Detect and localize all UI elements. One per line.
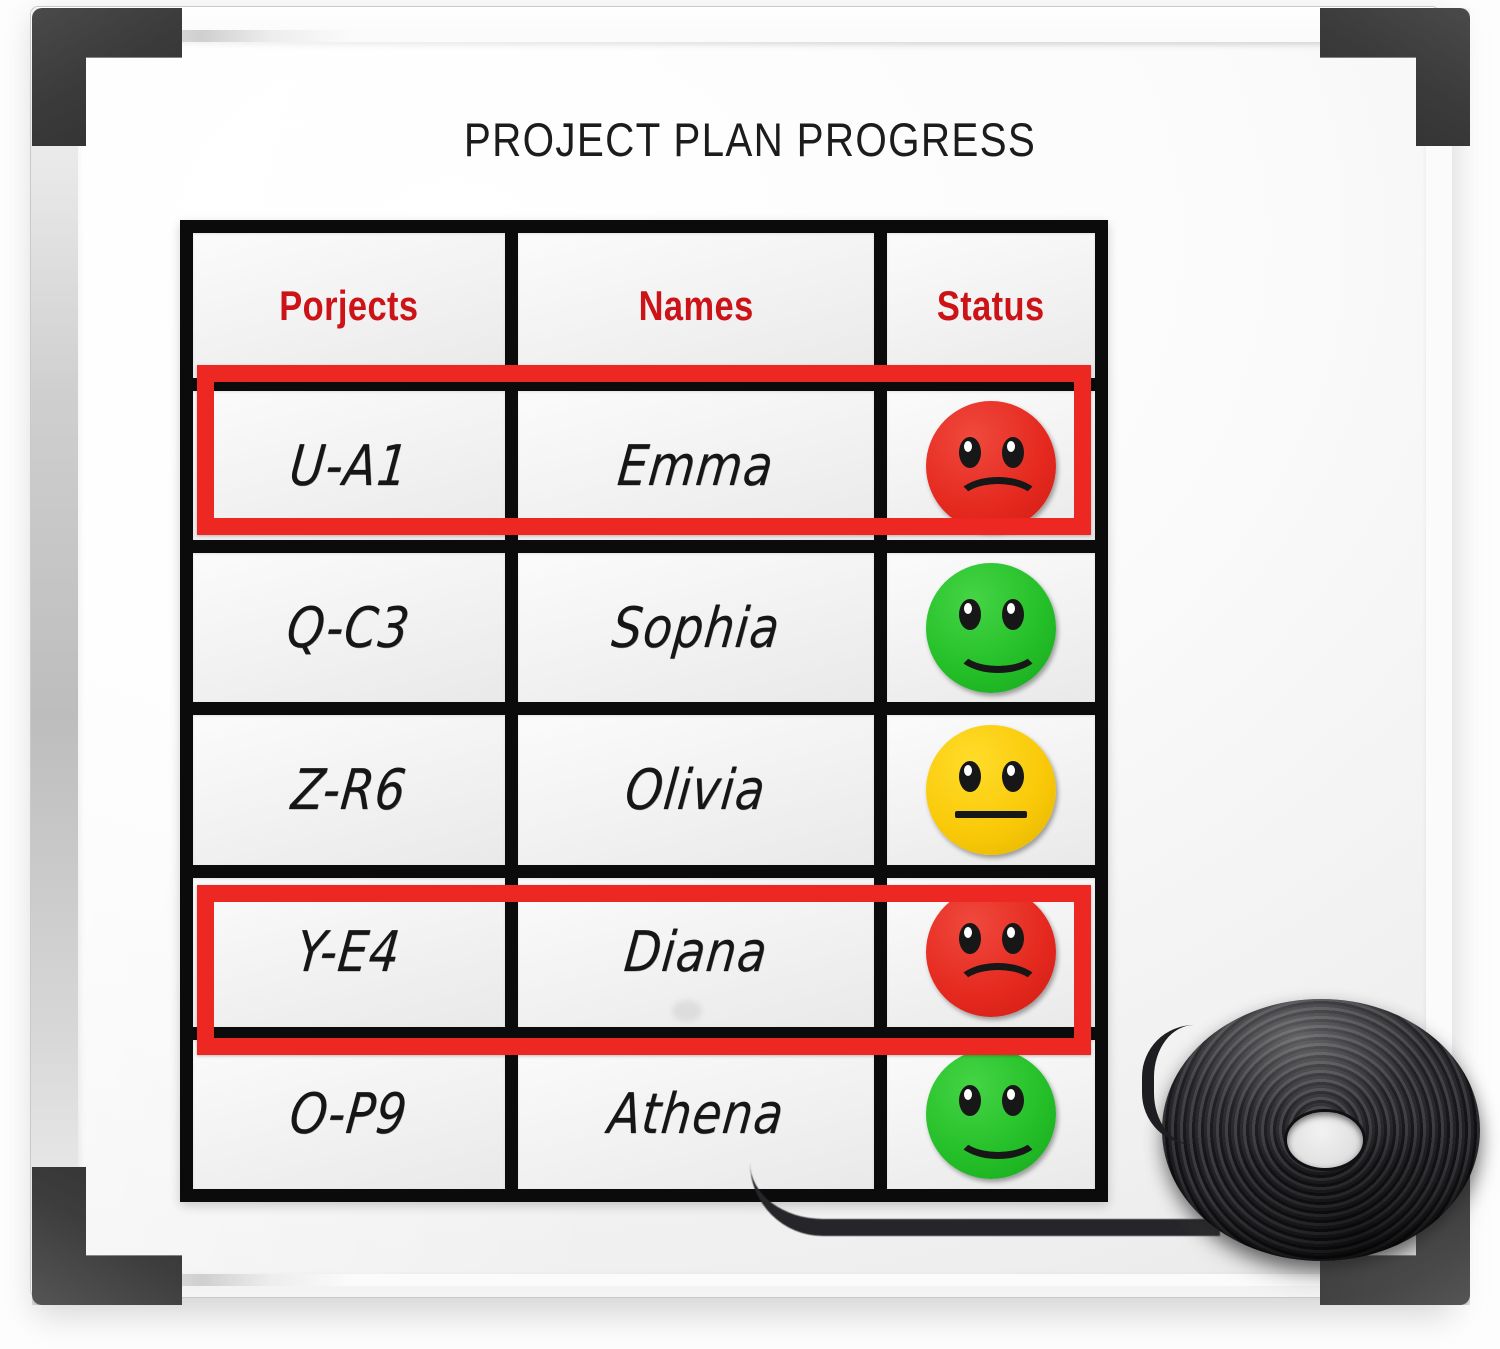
- tape-loose-end: [750, 1163, 1220, 1236]
- eye-right: [1002, 923, 1024, 954]
- header-cell-projects: Porjects: [193, 233, 505, 378]
- mouth-smile: [954, 623, 1042, 673]
- cell-project: O-P9: [193, 1040, 505, 1189]
- sad-face-icon: [926, 401, 1056, 531]
- person-name: Athena: [605, 1082, 787, 1147]
- mouth-flat: [955, 811, 1027, 818]
- project-code: U-A1: [286, 433, 411, 498]
- board-smudge: [672, 1000, 702, 1022]
- eye-right: [1002, 761, 1024, 792]
- cell-name: Sophia: [518, 553, 874, 702]
- person-name: Olivia: [623, 758, 770, 823]
- mouth-smile: [954, 1109, 1042, 1159]
- progress-table: Porjects Names Status U-A1 Emma: [180, 220, 1108, 1202]
- table-row: Y-E4 Diana: [193, 878, 1095, 1027]
- eye-left: [959, 761, 981, 792]
- roll-center-hole: [1287, 1112, 1363, 1168]
- whiteboard-scene: PROJECT PLAN PROGRESS Porjects Names Sta…: [0, 0, 1500, 1349]
- project-code: O-P9: [287, 1082, 411, 1147]
- project-code: Z-R6: [288, 758, 409, 823]
- header-label-status: Status: [937, 282, 1045, 330]
- project-code: Y-E4: [294, 920, 404, 985]
- person-name: Emma: [615, 433, 777, 498]
- cell-status: [887, 553, 1095, 702]
- cell-project: Z-R6: [193, 715, 505, 864]
- cell-name: Olivia: [518, 715, 874, 864]
- mouth-frown: [954, 963, 1042, 1013]
- person-name: Sophia: [609, 595, 783, 660]
- happy-face-icon: [926, 1049, 1056, 1179]
- table-row: U-A1 Emma: [193, 391, 1095, 540]
- cell-project: Y-E4: [193, 878, 505, 1027]
- mouth-frown: [954, 477, 1042, 527]
- eye-right: [1002, 437, 1024, 468]
- eye-left: [959, 923, 981, 954]
- board-title: PROJECT PLAN PROGRESS: [105, 112, 1395, 167]
- magnetic-tape-roll: [1160, 995, 1490, 1285]
- cell-project: U-A1: [193, 391, 505, 540]
- table-row: Z-R6 Olivia: [193, 715, 1095, 864]
- table-header-row: Porjects Names Status: [193, 233, 1095, 378]
- happy-face-icon: [926, 563, 1056, 693]
- cell-status: [887, 391, 1095, 540]
- header-label-projects: Porjects: [279, 282, 418, 330]
- neutral-face-icon: [926, 725, 1056, 855]
- header-cell-names: Names: [518, 233, 874, 378]
- cell-project: Q-C3: [193, 553, 505, 702]
- cell-status: [887, 878, 1095, 1027]
- table-row: Q-C3 Sophia: [193, 553, 1095, 702]
- eye-left: [959, 437, 981, 468]
- cell-name: Emma: [518, 391, 874, 540]
- sad-face-icon: [926, 887, 1056, 1017]
- project-code: Q-C3: [284, 595, 413, 660]
- cell-status: [887, 715, 1095, 864]
- person-name: Diana: [621, 920, 771, 985]
- header-cell-status: Status: [887, 233, 1095, 378]
- header-label-names: Names: [638, 282, 753, 330]
